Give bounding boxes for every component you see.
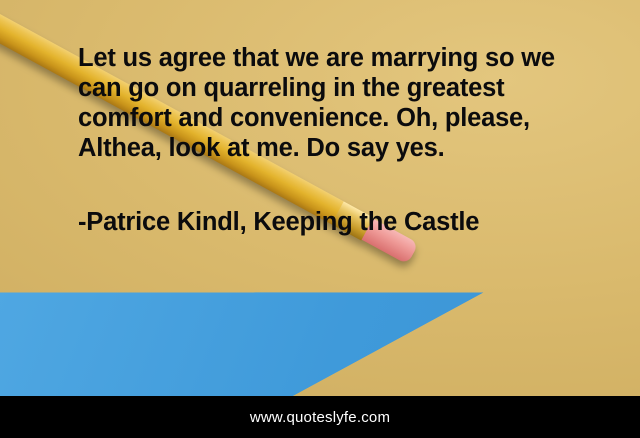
footer-bar: www.quoteslyfe.com (0, 396, 640, 438)
quote-body-text: Let us agree that we are marrying so we … (78, 44, 582, 164)
quote-card: Let us agree that we are marrying so we … (0, 0, 640, 438)
site-url-label: www.quoteslyfe.com (250, 409, 390, 426)
quote-attribution: -Patrice Kindl, Keeping the Castle (78, 208, 498, 238)
quote-content: Let us agree that we are marrying so we … (0, 0, 640, 396)
